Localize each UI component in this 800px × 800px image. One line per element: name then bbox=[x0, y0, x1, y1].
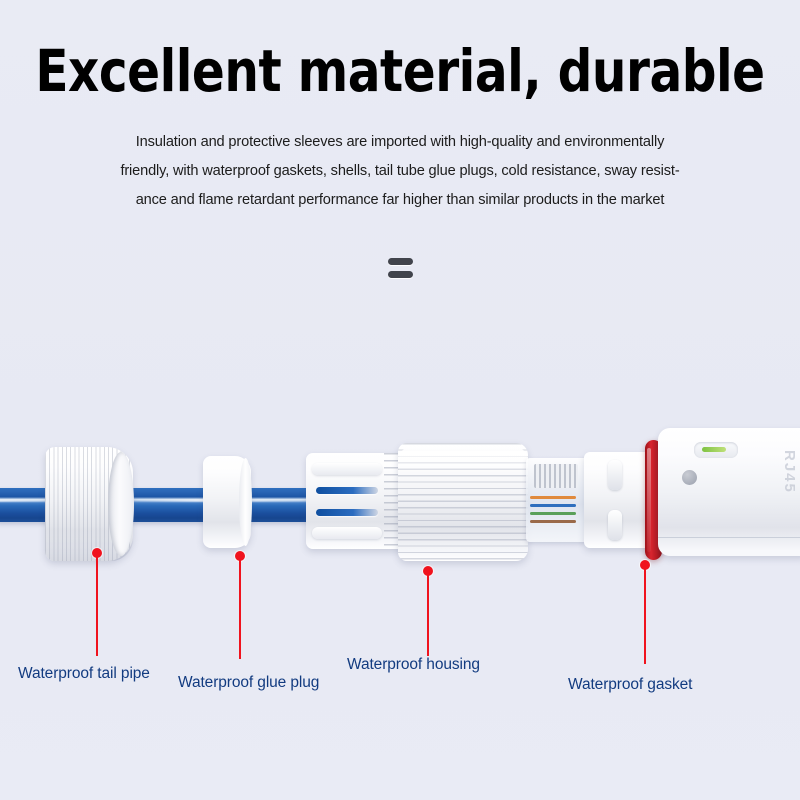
collar-fin-top bbox=[312, 463, 382, 475]
twisted-pair-wire-1 bbox=[530, 496, 576, 499]
collar-fin-bottom bbox=[312, 527, 382, 539]
tail-pipe-opening bbox=[108, 452, 134, 556]
description-line-2: friendly, with waterproof gaskets, shell… bbox=[100, 157, 700, 186]
description-paragraph: Insulation and protective sleeves are im… bbox=[100, 128, 700, 215]
callout-label-gasket: Waterproof gasket bbox=[568, 676, 692, 694]
callout-leader-line bbox=[427, 574, 429, 656]
barrel-tab-bottom bbox=[608, 510, 622, 540]
callout-label-glue-plug: Waterproof glue plug bbox=[178, 674, 319, 692]
led-indicator bbox=[694, 442, 738, 458]
callout-leader-line bbox=[239, 559, 241, 659]
collar-slot-1 bbox=[316, 487, 378, 494]
callout-leader-line bbox=[644, 568, 646, 664]
led-green-light bbox=[702, 447, 726, 452]
rj45-plug bbox=[526, 458, 588, 542]
divider-bar-top bbox=[388, 258, 413, 265]
waterproof-housing-part bbox=[398, 443, 528, 561]
glue-plug-edge bbox=[239, 458, 252, 546]
twisted-pair-wire-3 bbox=[530, 512, 576, 515]
description-line-1: Insulation and protective sleeves are im… bbox=[100, 128, 700, 157]
divider-bar-bottom bbox=[388, 271, 413, 278]
head-seam-line bbox=[658, 537, 800, 538]
twisted-pair-wire-4 bbox=[530, 520, 576, 523]
page-title: Excellent material, durable bbox=[28, 40, 772, 102]
callout-label-tail-pipe: Waterproof tail pipe bbox=[18, 665, 150, 683]
description-line-3: ance and flame retardant performance far… bbox=[100, 186, 700, 215]
waterproof-glue-plug-part bbox=[203, 456, 251, 548]
strain-relief-collar bbox=[306, 453, 412, 549]
head-gray-dot bbox=[682, 470, 697, 485]
callout-leader-line bbox=[96, 556, 98, 656]
waterproof-tail-pipe-part bbox=[45, 447, 133, 561]
connector-head: RJ45 bbox=[658, 428, 800, 556]
equals-divider-icon bbox=[376, 258, 424, 284]
twisted-pair-wire-2 bbox=[530, 504, 576, 507]
housing-highlight bbox=[398, 449, 528, 475]
callout-label-housing: Waterproof housing bbox=[347, 656, 480, 674]
collar-slot-2 bbox=[316, 509, 378, 516]
head-emboss-text: RJ45 bbox=[781, 450, 798, 494]
barrel-tab-top bbox=[608, 460, 622, 490]
infographic-page: Excellent material, durable Insulation a… bbox=[0, 0, 800, 800]
rj45-gold-contacts bbox=[534, 464, 578, 488]
